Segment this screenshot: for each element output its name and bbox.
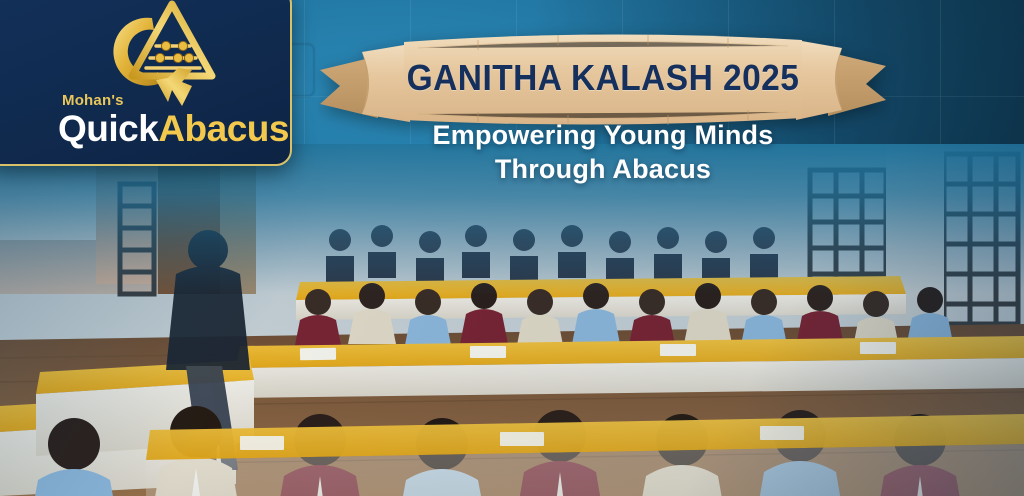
brand-word-abacus: Abacus xyxy=(158,108,289,149)
brand-word-quick: Quick xyxy=(58,108,158,149)
event-banner: Mohan's QuickAbacus xyxy=(0,0,1024,496)
subtitle-line-2: Through Abacus xyxy=(318,152,888,186)
brand-prefix: Mohan's xyxy=(62,92,124,109)
event-subtitle: Empowering Young Minds Through Abacus xyxy=(318,118,888,186)
event-photo xyxy=(0,144,1024,496)
brand-logo-card[interactable]: Mohan's QuickAbacus xyxy=(0,0,292,166)
event-title: GANITHA KALASH 2025 xyxy=(338,50,868,106)
subtitle-line-1: Empowering Young Minds xyxy=(318,118,888,152)
brand-wordmark: QuickAbacus xyxy=(58,110,289,147)
